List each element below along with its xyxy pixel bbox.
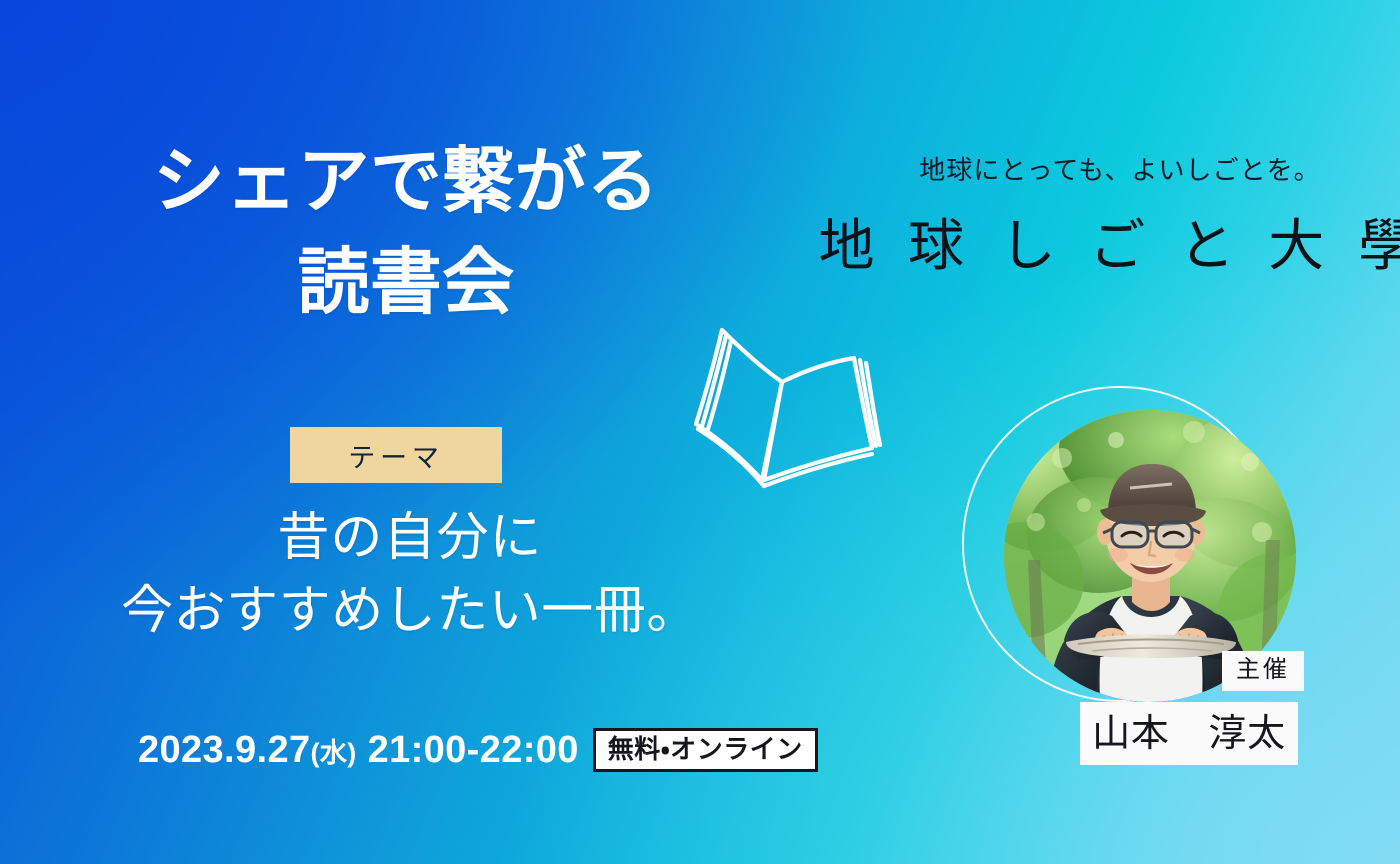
open-book-icon	[684, 314, 884, 504]
host-name: 山本 淳太	[1080, 702, 1298, 765]
event-poster: シェアで繋がる 読書会 テーマ 昔の自分に	[0, 0, 1400, 864]
schedule-day-of-week: (水)	[310, 738, 356, 768]
schedule-date: 2023.9.27	[138, 729, 310, 771]
brand-name: 地 球 し ご と 大 學	[860, 201, 1380, 282]
brand-name-part1: 地 球	[818, 201, 971, 282]
status-badge: 無料・オンライン	[593, 728, 818, 772]
theme-line-1: 昔の自分に	[60, 505, 760, 572]
brand-logo: 地球にとっても、よいしごとを。 地 球	[860, 150, 1380, 282]
theme-text: 昔の自分に 今おすすめしたい一冊。	[60, 505, 760, 644]
schedule-datetime: 2023.9.27(水) 21:00-22:00	[138, 729, 579, 772]
theme-badge: テーマ	[290, 427, 502, 483]
headline-line-1: シェアで繋がる	[96, 140, 716, 225]
brand-tagline: 地球にとっても、よいしごとを。	[860, 150, 1380, 187]
brand-name-part2: し ご と 大 學	[1000, 201, 1400, 282]
headline-line-2: 読書会	[96, 241, 716, 326]
theme-line-2: 今おすすめしたい一冊。	[60, 578, 760, 645]
page-title: シェアで繋がる 読書会	[96, 140, 716, 326]
schedule-time: 21:00-22:00	[368, 729, 579, 771]
schedule-bar: 2023.9.27(水) 21:00-22:00 無料・オンライン	[138, 728, 818, 772]
host-role-badge: 主催	[1222, 651, 1304, 691]
